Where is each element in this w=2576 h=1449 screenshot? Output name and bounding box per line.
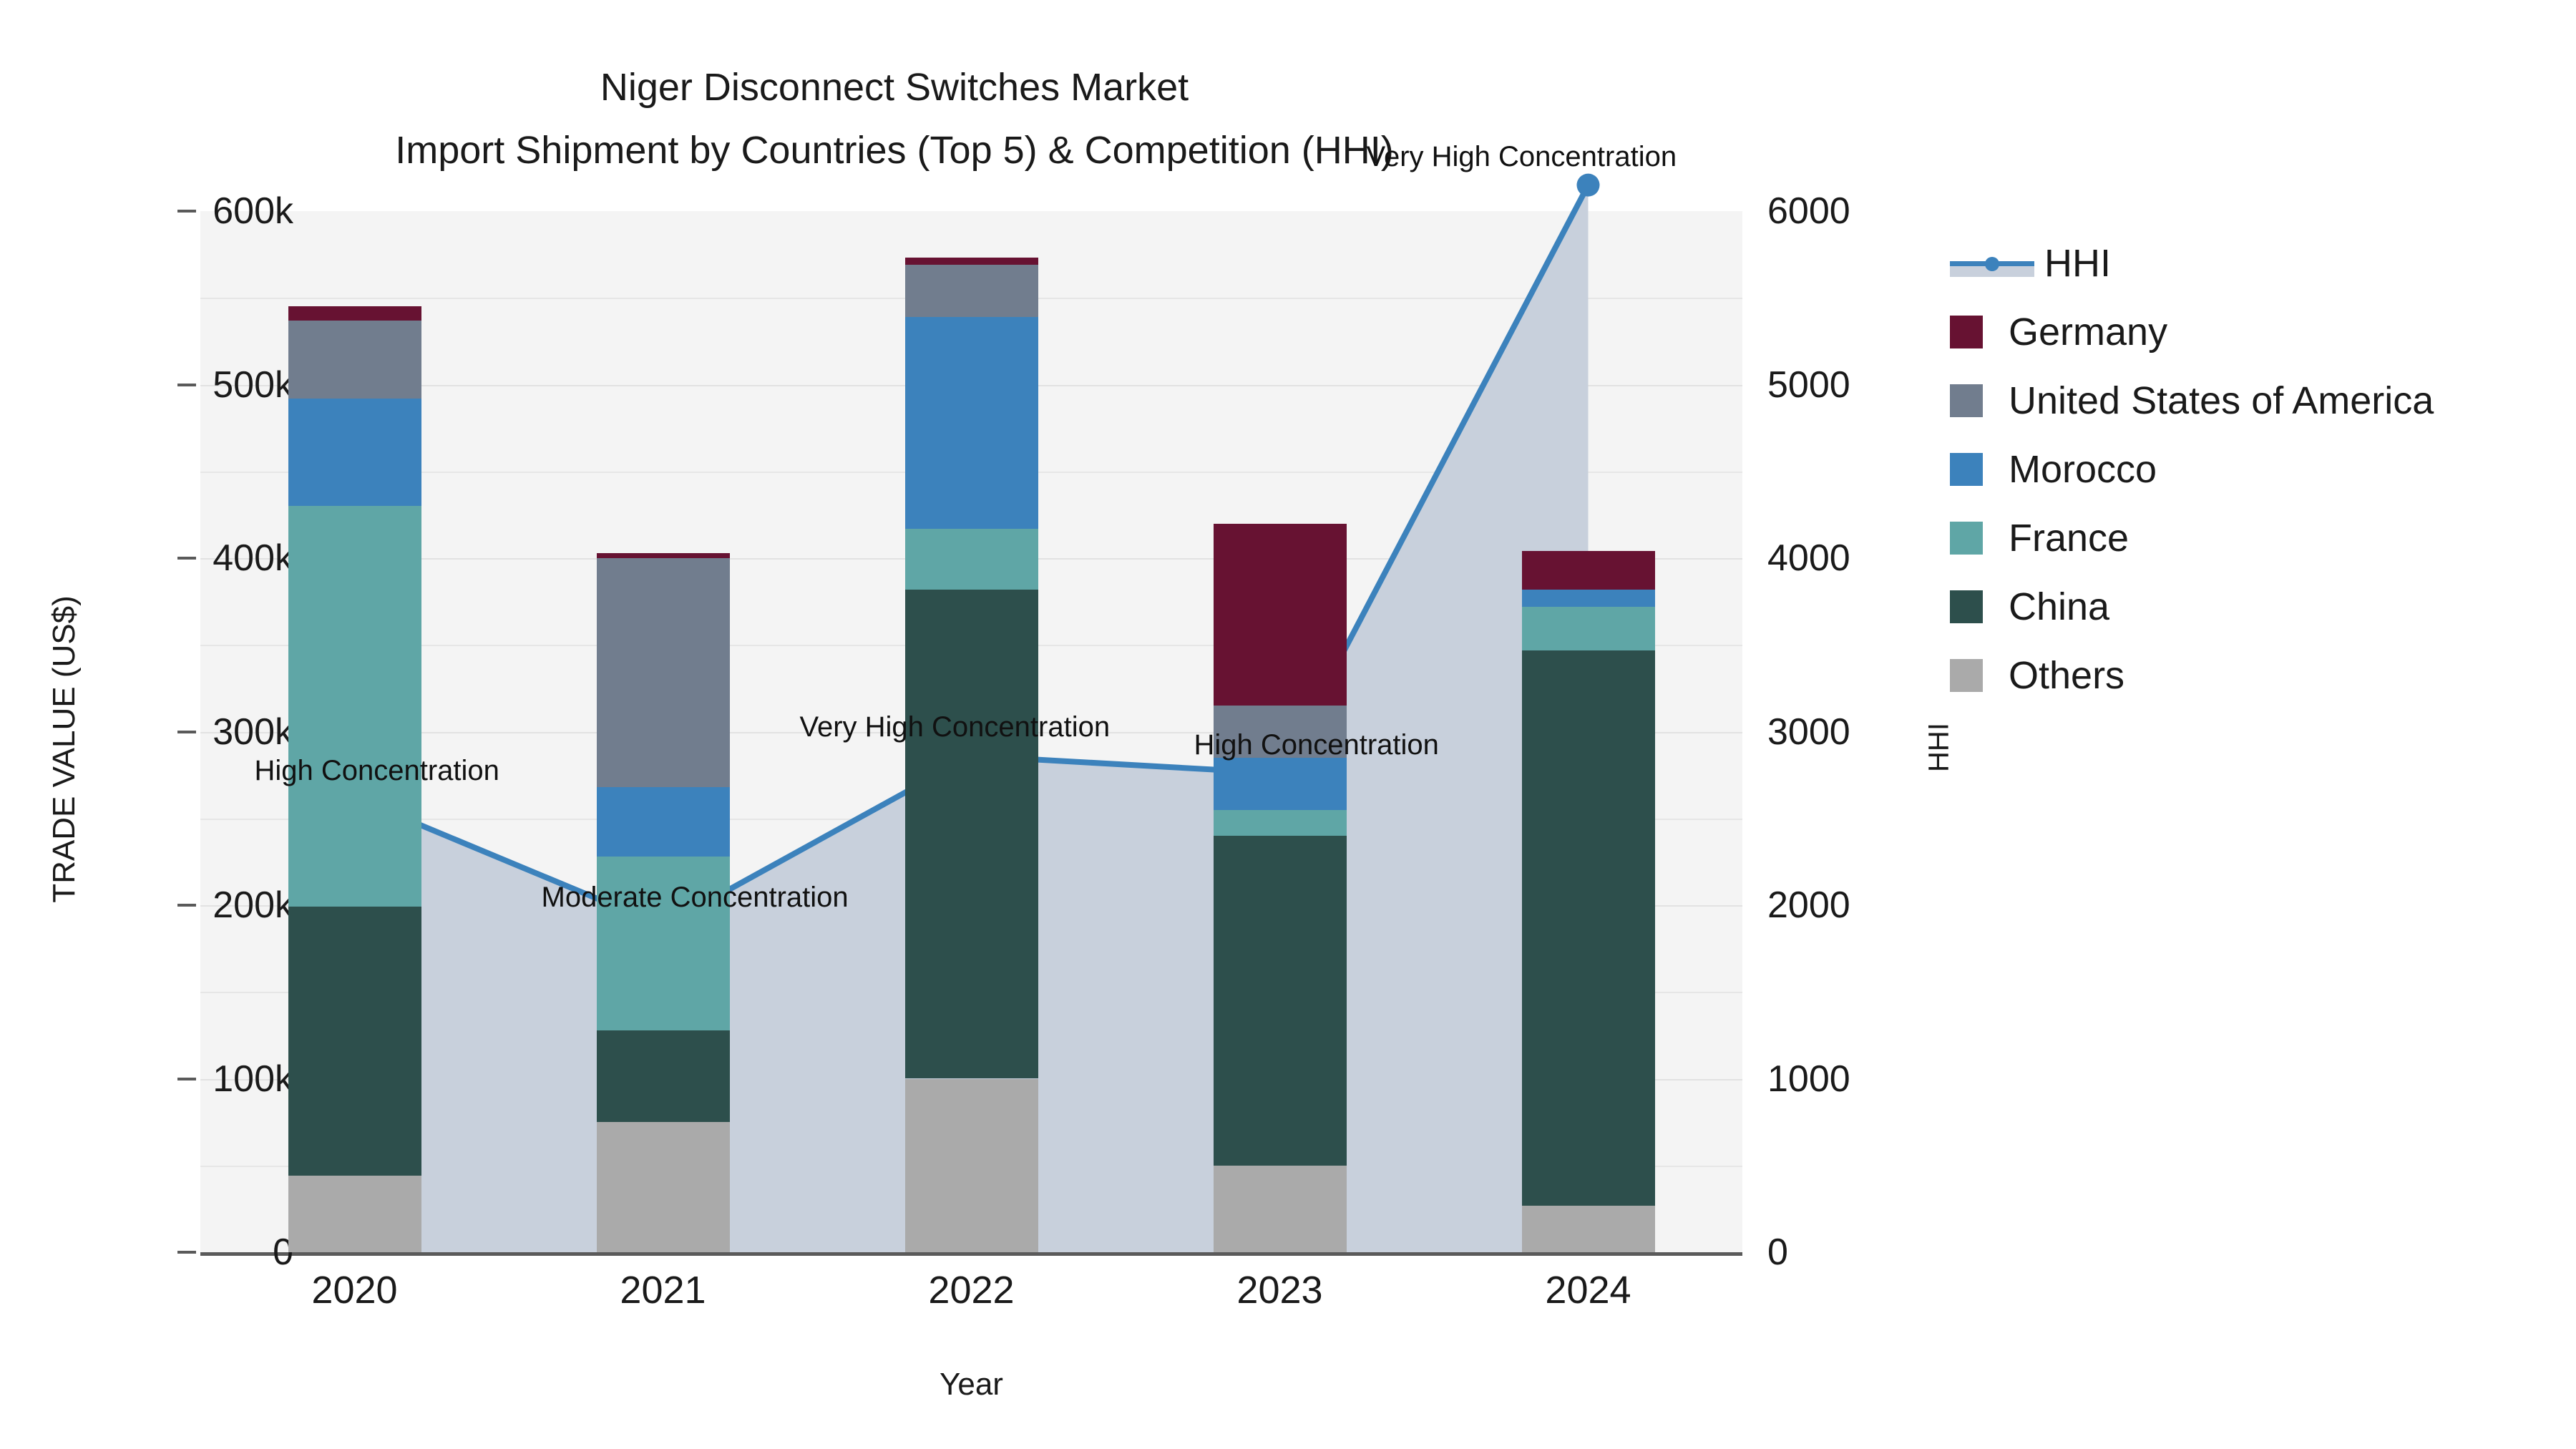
bar-segment[interactable] (905, 590, 1038, 1079)
bar-segment[interactable] (288, 1176, 421, 1252)
y-axis-left-tick-label: 100k (107, 1058, 293, 1101)
legend-item-label: France (2009, 516, 2129, 560)
legend-color-swatch (1950, 453, 1983, 486)
legend-line-icon (1950, 247, 2034, 280)
bar-segment[interactable] (1522, 1206, 1655, 1252)
legend-color-swatch (1950, 316, 1983, 348)
y-axis-left-tick-mark (177, 731, 196, 733)
chart-legend: HHIGermanyUnited States of AmericaMorocc… (1950, 229, 2565, 710)
hhi-data-point[interactable] (1577, 174, 1600, 197)
x-axis-tick-label[interactable]: 2024 (1467, 1268, 1710, 1312)
legend-color-swatch (1950, 659, 1983, 692)
legend-item[interactable]: United States of America (1950, 366, 2565, 435)
chart-root: Niger Disconnect Switches Market Import … (0, 0, 2576, 1449)
legend-item-label: China (2009, 585, 2109, 629)
hhi-annotation-label: Moderate Concentration (542, 882, 849, 914)
legend-item[interactable]: China (1950, 572, 2565, 641)
y-axis-left-tick-mark (177, 384, 196, 386)
bar-segment[interactable] (288, 321, 421, 399)
hhi-annotation-label: High Concentration (255, 755, 499, 787)
bar-segment[interactable] (597, 553, 730, 558)
bar-segment[interactable] (905, 529, 1038, 590)
bar-segment[interactable] (1522, 551, 1655, 589)
bar-segment[interactable] (1214, 524, 1347, 706)
x-axis-tick-label[interactable]: 2023 (1158, 1268, 1402, 1312)
bar-segment[interactable] (597, 1122, 730, 1252)
bar-segment[interactable] (1522, 590, 1655, 607)
x-axis-tick-label[interactable]: 2021 (542, 1268, 785, 1312)
bar-segment[interactable] (288, 506, 421, 907)
bar-segment[interactable] (905, 258, 1038, 265)
y-axis-left-tick-mark (177, 557, 196, 560)
y-axis-left-tick-label: 0 (107, 1231, 293, 1274)
legend-color-swatch (1950, 590, 1983, 623)
bar-stack[interactable] (597, 211, 730, 1252)
chart-title: Niger Disconnect Switches Market (0, 56, 1789, 119)
bar-segment[interactable] (1214, 1166, 1347, 1252)
y-axis-left-tick-label: 500k (107, 364, 293, 406)
y-axis-left-tick-mark (177, 904, 196, 907)
legend-item-label: Others (2009, 653, 2124, 698)
bar-segment[interactable] (1522, 650, 1655, 1206)
legend-item[interactable]: Others (1950, 641, 2565, 710)
bar-segment[interactable] (597, 787, 730, 857)
bar-segment[interactable] (597, 558, 730, 787)
legend-item-label: HHI (2044, 241, 2111, 286)
legend-item-label: Germany (2009, 310, 2167, 354)
x-axis-line (200, 1252, 1742, 1256)
bar-segment[interactable] (288, 907, 421, 1176)
y-axis-left-tick-mark (177, 210, 196, 213)
legend-item-label: United States of America (2009, 379, 2434, 423)
legend-item[interactable]: France (1950, 504, 2565, 572)
legend-item[interactable]: HHI (1950, 229, 2565, 298)
y-axis-right-tick-label: 6000 (1767, 190, 1982, 233)
y-axis-left-tick-mark (177, 1251, 196, 1254)
y-axis-right-tick-label: 0 (1767, 1231, 1982, 1274)
x-axis-label: Year (200, 1367, 1742, 1402)
bar-segment[interactable] (1214, 836, 1347, 1166)
x-axis-tick-label[interactable]: 2022 (850, 1268, 1093, 1312)
bar-segment[interactable] (905, 317, 1038, 529)
y-axis-left-label: TRADE VALUE (US$) (47, 499, 82, 1000)
bar-segment[interactable] (1214, 758, 1347, 810)
bar-segment[interactable] (288, 306, 421, 320)
bar-segment[interactable] (288, 399, 421, 506)
bar-segment[interactable] (1214, 810, 1347, 836)
bar-segment[interactable] (597, 1030, 730, 1123)
legend-item[interactable]: Morocco (1950, 435, 2565, 504)
legend-item[interactable]: Germany (1950, 298, 2565, 366)
hhi-annotation-label: Very High Concentration (1367, 141, 1677, 173)
hhi-annotation-label: High Concentration (1194, 729, 1439, 761)
legend-color-swatch (1950, 522, 1983, 555)
y-axis-left-tick-mark (177, 1078, 196, 1080)
bar-stack[interactable] (1522, 211, 1655, 1252)
hhi-annotation-label: Very High Concentration (800, 711, 1111, 743)
legend-color-swatch (1950, 384, 1983, 417)
bar-segment[interactable] (905, 1079, 1038, 1253)
bar-stack[interactable] (288, 211, 421, 1252)
y-axis-left-tick-label: 200k (107, 884, 293, 927)
y-axis-right-tick-label: 1000 (1767, 1058, 1982, 1101)
y-axis-left-tick-label: 600k (107, 190, 293, 233)
y-axis-left-tick-label: 400k (107, 537, 293, 580)
legend-item-label: Morocco (2009, 447, 2157, 492)
y-axis-left-tick-label: 300k (107, 711, 293, 753)
bar-segment[interactable] (905, 265, 1038, 317)
bar-segment[interactable] (1522, 607, 1655, 650)
x-axis-tick-label[interactable]: 2020 (233, 1268, 477, 1312)
